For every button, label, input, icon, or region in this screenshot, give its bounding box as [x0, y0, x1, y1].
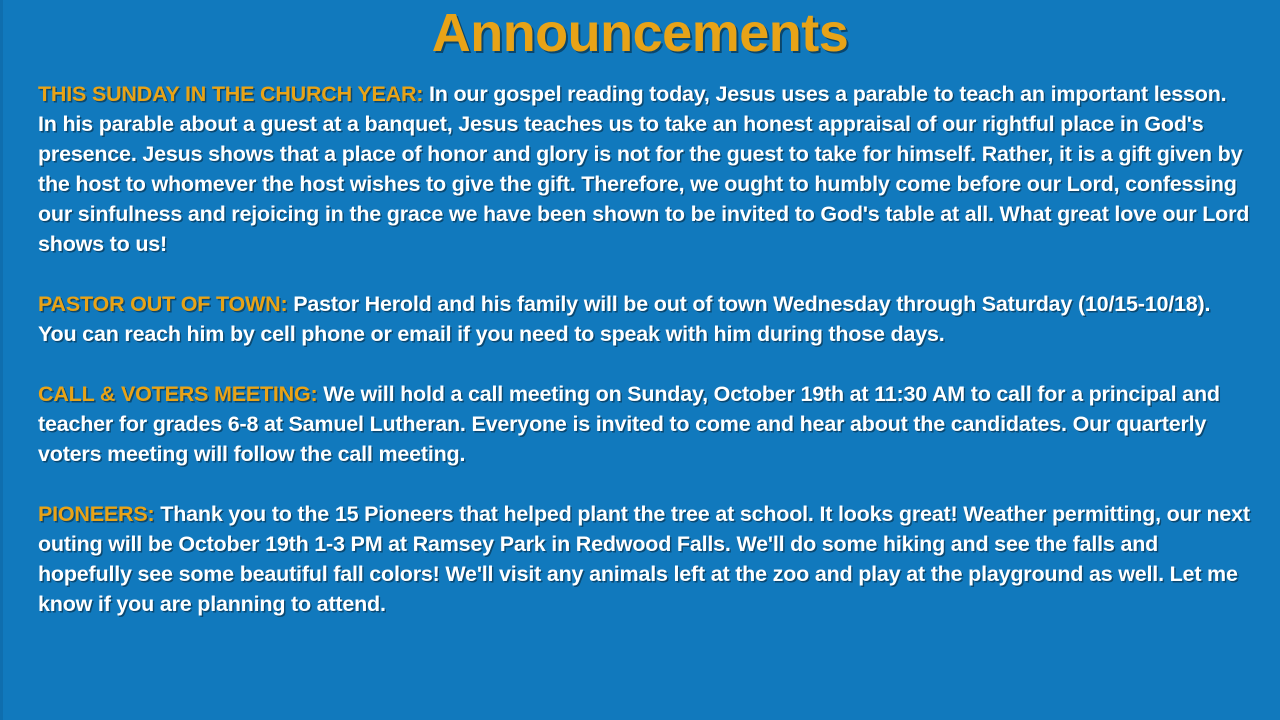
announcement-heading: PIONEERS: [38, 502, 154, 526]
announcement-heading: THIS SUNDAY IN THE CHURCH YEAR: [38, 82, 423, 106]
announcement-body: In our gospel reading today, Jesus uses … [38, 82, 1249, 256]
announcements-slide: Announcements THIS SUNDAY IN THE CHURCH … [0, 0, 1280, 720]
announcement-heading: PASTOR OUT OF TOWN: [38, 292, 287, 316]
announcement-body: Thank you to the 15 Pioneers that helped… [38, 502, 1250, 616]
announcement-item: CALL & VOTERS MEETING: We will hold a ca… [38, 379, 1250, 469]
announcement-item: PASTOR OUT OF TOWN: Pastor Herold and hi… [38, 289, 1250, 349]
announcement-item: THIS SUNDAY IN THE CHURCH YEAR: In our g… [38, 79, 1250, 259]
announcement-item: PIONEERS: Thank you to the 15 Pioneers t… [38, 499, 1250, 619]
announcement-heading: CALL & VOTERS MEETING: [38, 382, 318, 406]
page-title: Announcements [0, 2, 1280, 64]
announcements-list: THIS SUNDAY IN THE CHURCH YEAR: In our g… [38, 79, 1250, 709]
